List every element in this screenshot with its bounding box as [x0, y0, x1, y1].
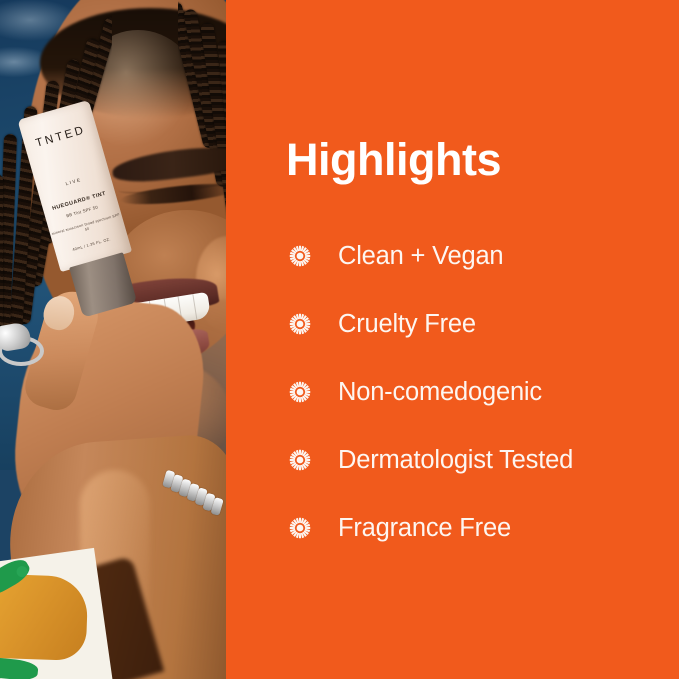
highlight-label: Fragrance Free: [338, 514, 511, 543]
shirt-green-leaf-2: [0, 656, 39, 679]
sunburst-icon: [284, 376, 316, 408]
highlight-label: Dermatologist Tested: [338, 446, 573, 475]
sunburst-icon: [284, 444, 316, 476]
sunburst-icon: [284, 512, 316, 544]
sunburst-icon: [284, 308, 316, 340]
highlight-item: Dermatologist Tested: [284, 426, 664, 494]
highlight-item: Non-comedogenic: [284, 358, 664, 426]
highlight-item: Fragrance Free: [284, 494, 664, 562]
highlights-list: Clean + VeganCruelty FreeNon-comedogenic…: [284, 222, 664, 562]
highlights-banner: TNTED LIVE HUEGUARD® TINT BB Tint SPF 50…: [0, 0, 679, 679]
highlight-label: Non-comedogenic: [338, 378, 542, 407]
highlight-label: Cruelty Free: [338, 310, 476, 339]
sunburst-icon: [284, 240, 316, 272]
shirt-gold-pattern: [0, 573, 88, 661]
highlight-item: Cruelty Free: [284, 290, 664, 358]
tooth-separator: [192, 294, 197, 320]
silver-ring: [0, 322, 38, 366]
product-photo: TNTED LIVE HUEGUARD® TINT BB Tint SPF 50…: [0, 0, 226, 679]
highlight-item: Clean + Vegan: [284, 222, 664, 290]
braid-strand: [0, 174, 3, 344]
highlight-label: Clean + Vegan: [338, 242, 503, 271]
highlights-panel: Highlights Clean + VeganCruelty FreeNon-…: [226, 0, 679, 679]
patterned-shirt: [0, 548, 113, 679]
page-title: Highlights: [286, 137, 501, 182]
